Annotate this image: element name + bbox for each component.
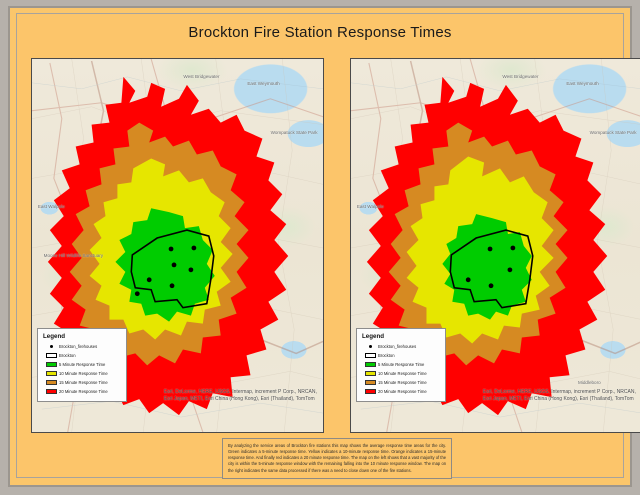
swatch-icon-yellow (43, 371, 59, 376)
legend-item-20min: 20 Minute Response Time (362, 388, 441, 395)
place-label: East Weymouth (247, 81, 279, 87)
legend-item-15min: 15 Minute Response Time (43, 379, 122, 386)
legend-item-label: 20 Minute Response Time (378, 389, 427, 394)
legend-item-firehouses: Brockton_firehouses (362, 343, 441, 350)
place-label: Wompatuck State Park (590, 130, 637, 136)
swatch-icon-yellow (362, 371, 378, 376)
legend-item-20min: 20 Minute Response Time (43, 388, 122, 395)
swatch-icon-red (43, 389, 59, 394)
point-symbol-icon (43, 345, 59, 348)
legend-item-firehouses: Brockton_firehouses (43, 343, 122, 350)
swatch-icon-green (362, 362, 378, 367)
legend-heading: Legend (43, 333, 122, 340)
legend-item-15min: 15 Minute Response Time (362, 379, 441, 386)
map-panel-right[interactable]: West Bridgewater East Weymouth East Walp… (350, 58, 640, 433)
legend-item-label: 5 Minute Response Time (378, 362, 424, 367)
map-panel-left[interactable]: West Bridgewater East Weymouth East Walp… (31, 58, 324, 433)
page-title: Brockton Fire Station Response Times (17, 24, 623, 41)
place-label: Wompatuck State Park (271, 130, 318, 136)
screenshot-root: Brockton Fire Station Response Times (0, 0, 640, 495)
legend-heading: Legend (362, 333, 441, 340)
swatch-icon-orange (362, 380, 378, 385)
outline-symbol-icon (43, 353, 59, 358)
place-label: East Weymouth (566, 81, 598, 87)
swatch-icon-red (362, 389, 378, 394)
legend-item-5min: 5 Minute Response Time (43, 361, 122, 368)
legend-item-5min: 5 Minute Response Time (362, 361, 441, 368)
legend-item-label: Brockton_firehouses (378, 344, 416, 349)
swatch-icon-green (43, 362, 59, 367)
map-document-inner: Brockton Fire Station Response Times (16, 13, 624, 478)
legend-item-label: 10 Minute Response Time (59, 371, 108, 376)
legend-item-label: Brockton (378, 353, 395, 358)
map-document-sheet: Brockton Fire Station Response Times (8, 6, 632, 487)
place-label: Moose Hill Wildlife Sanctuary (44, 253, 103, 259)
legend-item-10min: 10 Minute Response Time (362, 370, 441, 377)
point-symbol-icon (362, 345, 378, 348)
swatch-icon-orange (43, 380, 59, 385)
legend-item-label: Brockton_firehouses (59, 344, 97, 349)
legend-item-label: 20 Minute Response Time (59, 389, 108, 394)
place-label: Middleboro (578, 380, 601, 386)
place-label: West Bridgewater (183, 74, 219, 80)
legend-item-label: 5 Minute Response Time (59, 362, 105, 367)
legend-item-10min: 10 Minute Response Time (43, 370, 122, 377)
legend-item-label: 15 Minute Response Time (378, 380, 427, 385)
legend-item-label: Brockton (59, 353, 76, 358)
description-box: By analyzing the service areas of Brockt… (222, 438, 452, 479)
legend-item-label: 15 Minute Response Time (59, 380, 108, 385)
place-label: East Walpole (38, 204, 65, 210)
legend-item-label: 10 Minute Response Time (378, 371, 427, 376)
place-label: West Bridgewater (502, 74, 538, 80)
legend-item-brockton: Brockton (43, 352, 122, 359)
outline-symbol-icon (362, 353, 378, 358)
place-label: East Walpole (357, 204, 384, 210)
legend-right: Legend Brockton_firehouses Brockton 5 Mi… (356, 328, 446, 402)
legend-left: Legend Brockton_firehouses Brockton 5 Mi… (37, 328, 127, 402)
legend-item-brockton: Brockton (362, 352, 441, 359)
description-text: By analyzing the service areas of Brockt… (228, 443, 446, 474)
